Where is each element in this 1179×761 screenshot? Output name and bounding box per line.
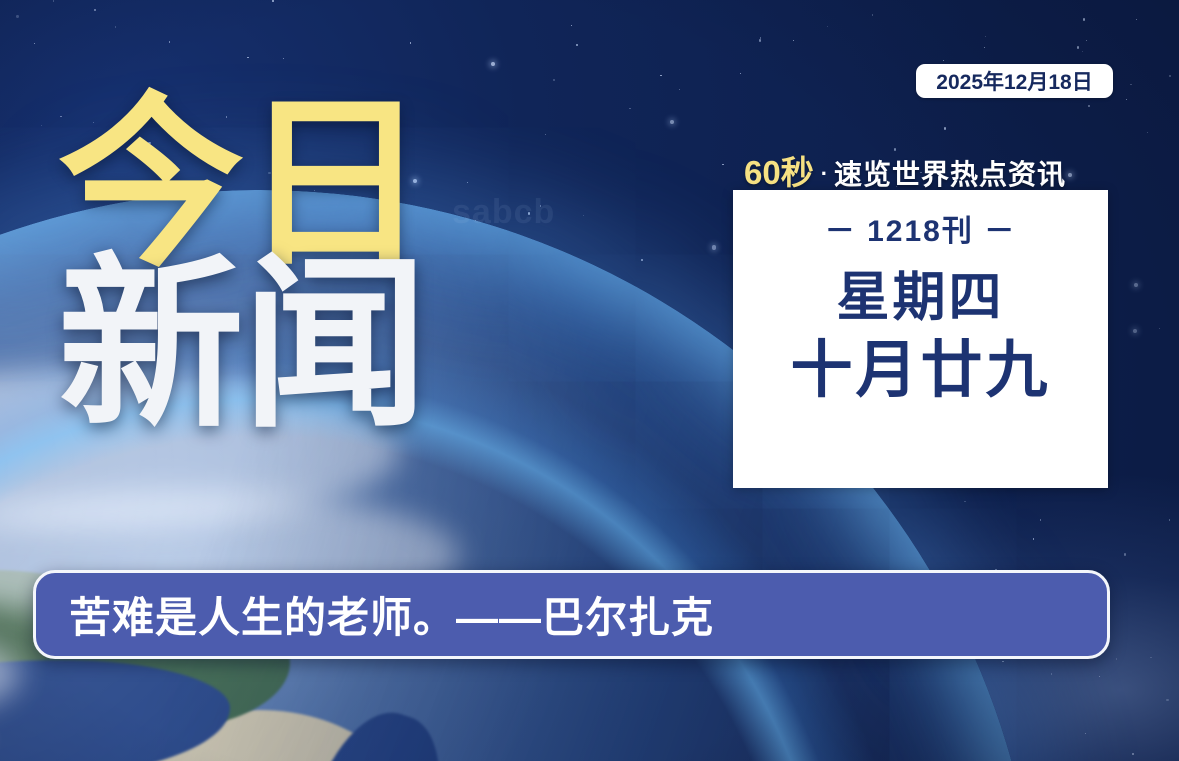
tagline: 60秒 · 速览世界热点资讯 [744,146,1066,194]
quote-bar: 苦难是人生的老师。——巴尔扎克 [33,570,1110,659]
tagline-seconds: 60秒 [744,146,814,194]
news-poster: sabcb 2025年12月18日 60秒 · 速览世界热点资讯 － 1218刊… [0,0,1179,761]
card-lunar-date: 十月廿九 [790,338,1050,403]
date-badge: 2025年12月18日 [916,64,1113,98]
tagline-separator: · [821,161,828,187]
watermark-text: sabcb [452,193,555,232]
page-title-line2: 新闻 [58,257,426,436]
page-title: 今日 新闻 [58,96,426,435]
card-weekday: 星期四 [837,270,1005,326]
date-badge-label: 2025年12月18日 [936,66,1092,96]
card-issue-number: － 1218刊 － [825,206,1016,250]
info-card: － 1218刊 － 星期四 十月廿九 [733,190,1108,488]
tagline-text: 速览世界热点资讯 [834,153,1066,193]
quote-text: 苦难是人生的老师。——巴尔扎克 [69,584,714,645]
